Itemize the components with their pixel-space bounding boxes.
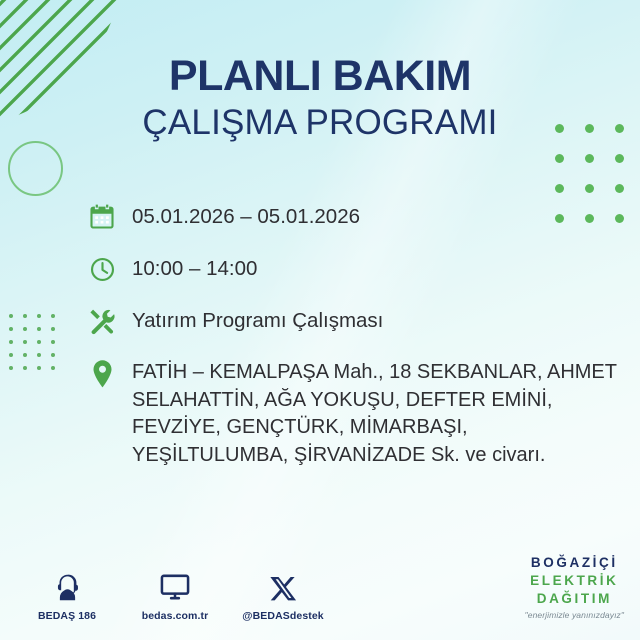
dot-grid-decoration-left [9,314,65,379]
contact-x-label: @BEDASdestek [242,610,324,622]
page-subtitle: ÇALIŞMA PROGRAMI [0,102,640,143]
date-range-text: 05.01.2026 – 05.01.2026 [132,199,360,230]
work-type-text: Yatırım Programı Çalışması [132,303,383,334]
location-pin-icon [84,355,120,391]
contact-phone[interactable]: BEDAŞ 186 [26,565,108,622]
address-text: FATİH – KEMALPAŞA Mah., 18 SEKBANLAR, AH… [132,355,624,469]
brand-line-elektrik: ELEKTRİK [525,572,624,590]
poster-footer: BEDAŞ 186 bedas.com.tr @BEDASdestek [0,548,640,624]
support-agent-icon [26,565,108,603]
planned-maintenance-poster: PLANLI BAKIM ÇALIŞMA PROGRAMI 05.01.2026… [0,0,640,640]
x-twitter-icon [242,565,324,603]
calendar-icon [84,199,120,235]
poster-header: PLANLI BAKIM ÇALIŞMA PROGRAMI [0,54,640,143]
maintenance-details: 05.01.2026 – 05.01.2026 10:00 – 14:00 Ya… [84,199,624,469]
detail-row-work-type: Yatırım Programı Çalışması [84,303,624,339]
monitor-icon [134,565,216,603]
detail-row-address: FATİH – KEMALPAŞA Mah., 18 SEKBANLAR, AH… [84,355,624,469]
brand-line-dagitim: DAĞITIM [525,590,624,608]
circle-outline-decoration [8,141,63,196]
brand-line-bogazici: BOĞAZİÇİ [525,554,624,572]
contact-channels: BEDAŞ 186 bedas.com.tr @BEDASdestek [26,565,324,622]
page-title: PLANLI BAKIM [0,54,640,100]
detail-row-date: 05.01.2026 – 05.01.2026 [84,199,624,235]
contact-website[interactable]: bedas.com.tr [134,565,216,622]
clock-icon [84,251,120,287]
contact-website-label: bedas.com.tr [134,610,216,622]
contact-phone-label: BEDAŞ 186 [26,610,108,622]
bedas-logo: BOĞAZİÇİ ELEKTRİK DAĞITIM "enerjimizle y… [525,554,624,620]
contact-x-twitter[interactable]: @BEDASdestek [242,565,324,622]
brand-tagline: "enerjimizle yanınızdayız" [525,610,624,620]
detail-row-time: 10:00 – 14:00 [84,251,624,287]
time-range-text: 10:00 – 14:00 [132,251,257,282]
tools-icon [84,303,120,339]
